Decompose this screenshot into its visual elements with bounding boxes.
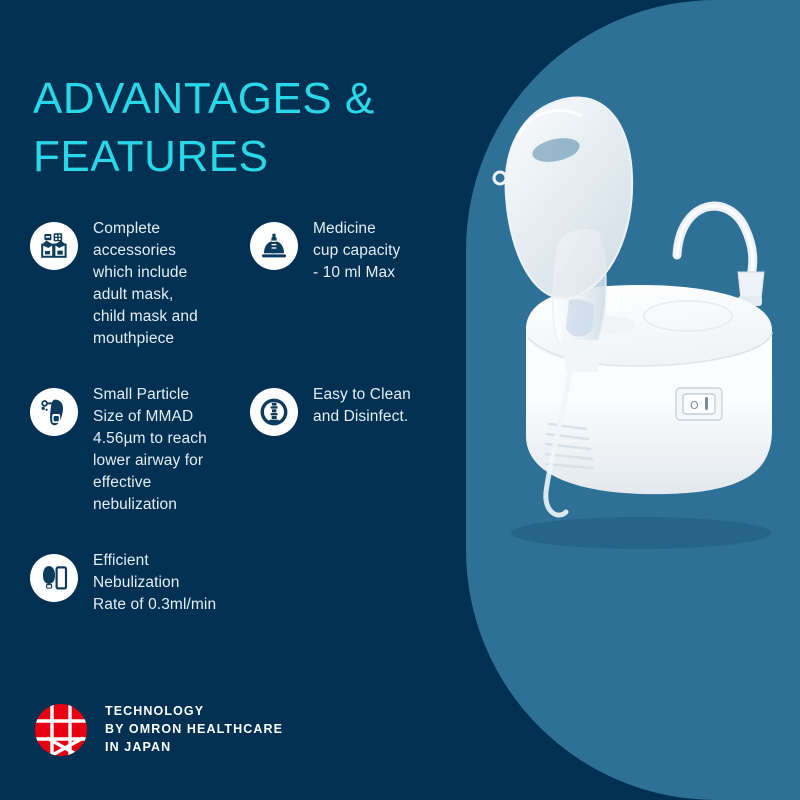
- feature-item-nebulization-rate: Efficient Nebulization Rate of 0.3ml/min: [30, 550, 260, 616]
- footer-technology-badge: TECHNOLOGY BY OMRON HEALTHCARE IN JAPAN: [33, 702, 283, 758]
- product-image-nebulizer: O: [466, 0, 800, 800]
- feature-item-label: Medicine cup capacity - 10 ml Max: [313, 218, 400, 284]
- feature-item-label: Efficient Nebulization Rate of 0.3ml/min: [93, 550, 216, 616]
- product-panel: O: [466, 0, 800, 800]
- open-box-accessories-icon: [30, 222, 78, 270]
- feature-item-easy-to-clean: Easy to Clean and Disinfect.: [250, 384, 465, 436]
- feature-item-complete-accessories: Complete accessories which include adult…: [30, 218, 245, 350]
- feature-item-label: Easy to Clean and Disinfect.: [313, 384, 411, 428]
- footer-text: TECHNOLOGY BY OMRON HEALTHCARE IN JAPAN: [105, 703, 283, 756]
- infographic-page: O: [0, 0, 800, 800]
- feature-item-medicine-cup-capacity: Medicine cup capacity - 10 ml Max: [250, 218, 465, 284]
- feature-item-label: Small Particle Size of MMAD 4.56µm to re…: [93, 384, 207, 516]
- svg-text:O: O: [690, 399, 699, 412]
- disassembled-parts-clean-icon: [250, 388, 298, 436]
- feature-item-label: Complete accessories which include adult…: [93, 218, 198, 350]
- feature-item-small-particle-size: Small Particle Size of MMAD 4.56µm to re…: [30, 384, 245, 516]
- particle-spray-icon: [30, 388, 78, 436]
- medicine-cup-icon: [250, 222, 298, 270]
- omron-japan-technology-logo: [33, 702, 89, 758]
- nebulization-rate-icon: [30, 554, 78, 602]
- page-title: ADVANTAGES & FEATURES: [33, 70, 453, 186]
